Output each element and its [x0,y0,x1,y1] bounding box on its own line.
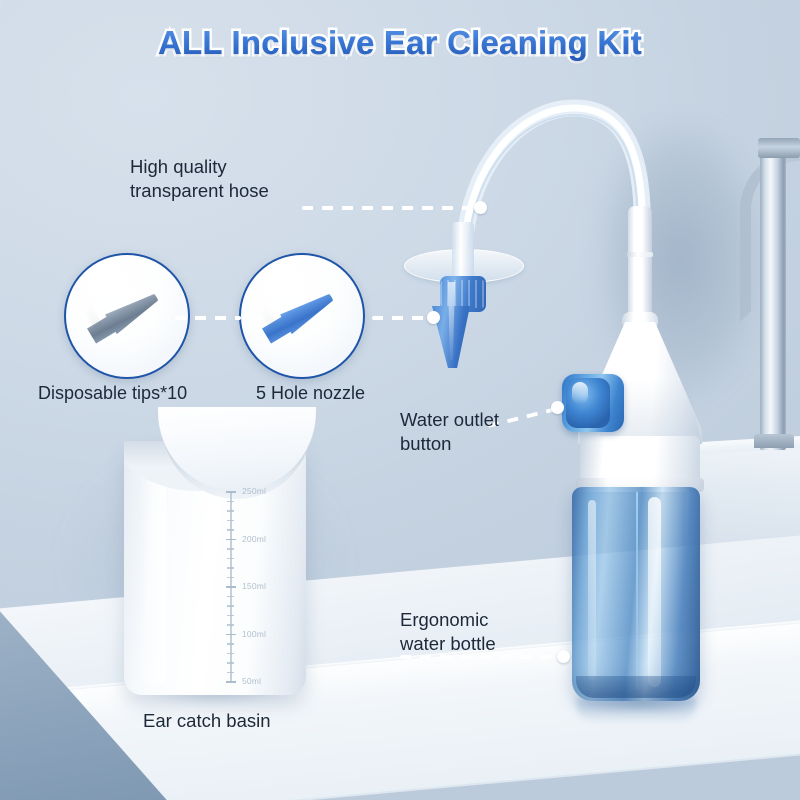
connector-nozzle [372,316,434,320]
connector-dot-hose [474,201,487,214]
inset-circle-five-hole-nozzle[interactable] [239,253,365,379]
callout-bottle-label: Ergonomic water bottle [400,608,496,656]
product-infographic: 250ml200ml150ml100ml50ml [0,0,800,800]
scale-major-tick [226,539,236,541]
connector-tips-to-nozzle [175,316,241,320]
callout-water-outlet-label: Water outlet button [400,408,499,456]
bottle-highlight-right [648,497,661,687]
scale-minor-tick [227,662,234,664]
scale-minor-tick [227,510,234,512]
connector-dot-water-outlet [551,401,564,414]
ear-catch-basin: 250ml200ml150ml100ml50ml [124,443,306,695]
scale-major-tick [226,681,236,683]
bottle-seam [636,492,638,690]
scale-minor-tick [227,615,234,617]
connector-dot-nozzle [427,311,440,324]
basin-highlight [140,467,166,687]
bottle-highlight-left [588,500,596,680]
bottle-reflection [576,698,696,724]
faucet-head [758,138,800,158]
chrome-faucet-icon [760,142,786,450]
inset-circle-disposable-tips[interactable] [64,253,190,379]
scale-major-tick [226,586,236,588]
connector-dot-bottle [557,650,570,663]
scale-minor-tick [227,558,234,560]
scale-label: 100ml [242,629,266,639]
scale-minor-tick [227,567,234,569]
scale-minor-tick [227,577,234,579]
callout-disposable-tips-label: Disposable tips*10 [38,381,187,405]
scale-minor-tick [227,520,234,522]
callout-basin-label: Ear catch basin [143,709,271,733]
scale-minor-tick [227,643,234,645]
connector-hose [302,206,480,210]
scale-label: 50ml [242,676,261,686]
button-highlight [572,382,588,404]
scale-major-tick [226,491,236,493]
callout-hose-label: High quality transparent hose [130,155,269,203]
scale-minor-tick [227,501,234,503]
scale-label: 250ml [242,486,266,496]
scale-minor-tick [227,624,234,626]
callout-nozzle-label: 5 Hole nozzle [256,381,365,405]
nozzle-grip-ribs [440,280,486,308]
scale-minor-tick [227,605,234,607]
scale-label: 200ml [242,534,266,544]
scale-minor-tick [227,672,234,674]
scale-minor-tick [227,596,234,598]
scale-minor-tick [227,653,234,655]
page-title: ALL Inclusive Ear Cleaning Kit [0,24,800,62]
bottle-base [576,676,696,698]
device-wand [628,206,652,322]
faucet-base [754,434,794,448]
scale-minor-tick [227,548,234,550]
scale-major-tick [226,634,236,636]
basin-measurement-scale: 250ml200ml150ml100ml50ml [230,491,302,681]
scale-minor-tick [227,529,234,531]
scale-label: 150ml [242,581,266,591]
wand-seam [627,252,653,257]
